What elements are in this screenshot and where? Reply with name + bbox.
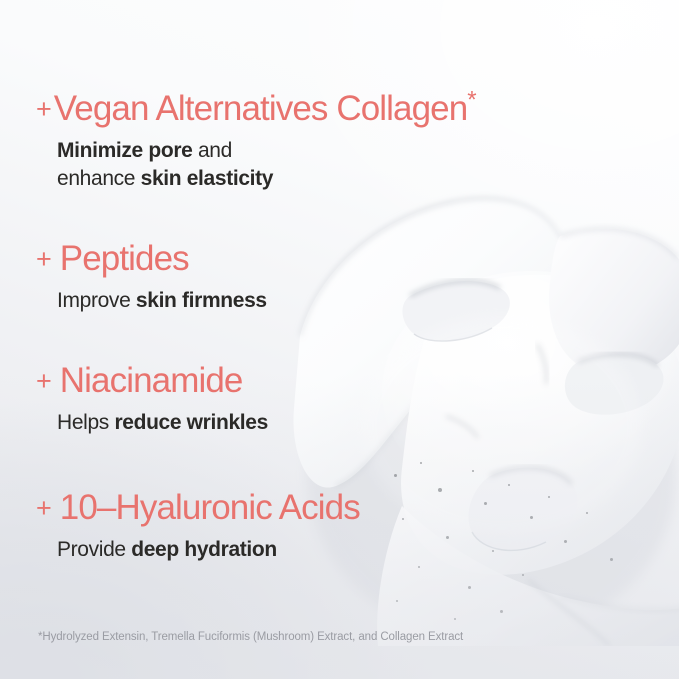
benefits-list: +Vegan Alternatives Collagen* Minimize p… [0, 0, 679, 679]
plus-icon: + [36, 94, 52, 124]
product-benefits-poster: +Vegan Alternatives Collagen* Minimize p… [0, 0, 679, 679]
plus-icon: + [36, 244, 52, 274]
benefit-item-peptides: +Peptides Improve skin firmness [36, 240, 267, 315]
benefit-headline-text: Niacinamide [60, 361, 243, 400]
benefit-description: Provide deep hydration [57, 536, 360, 564]
desc-regular: Provide [57, 538, 131, 561]
benefit-item-hyaluronic-acids: +10–Hyaluronic Acids Provide deep hydrat… [36, 489, 360, 564]
benefit-headline: +Vegan Alternatives Collagen* [36, 90, 477, 128]
desc-bold: reduce wrinkles [114, 411, 268, 434]
benefit-headline: +Niacinamide [36, 362, 268, 400]
plus-icon: + [36, 493, 52, 523]
desc-bold-2: skin elasticity [141, 167, 274, 190]
benefit-headline: +Peptides [36, 240, 267, 278]
benefit-description: Minimize pore andenhance skin elasticity [57, 137, 477, 193]
desc-bold: deep hydration [131, 538, 277, 561]
desc-regular: Improve [57, 289, 136, 312]
asterisk-marker: * [467, 86, 476, 113]
benefit-headline-text: Peptides [60, 239, 189, 278]
benefit-headline-text: Vegan Alternatives Collagen [54, 89, 468, 128]
benefit-description: Improve skin firmness [57, 287, 267, 315]
plus-icon: + [36, 366, 52, 396]
benefit-headline: +10–Hyaluronic Acids [36, 489, 360, 527]
benefit-description: Helps reduce wrinkles [57, 409, 268, 437]
benefit-item-vegan-collagen: +Vegan Alternatives Collagen* Minimize p… [36, 90, 477, 193]
desc-regular-2: enhance [57, 167, 141, 190]
benefit-headline-text: 10–Hyaluronic Acids [60, 488, 360, 527]
desc-regular: Helps [57, 411, 114, 434]
benefit-item-niacinamide: +Niacinamide Helps reduce wrinkles [36, 362, 268, 437]
desc-tail: and [192, 139, 231, 162]
desc-bold: skin firmness [136, 289, 267, 312]
ingredient-footnote: *Hydrolyzed Extensin, Tremella Fuciformi… [38, 631, 463, 643]
desc-bold: Minimize pore [57, 139, 192, 162]
